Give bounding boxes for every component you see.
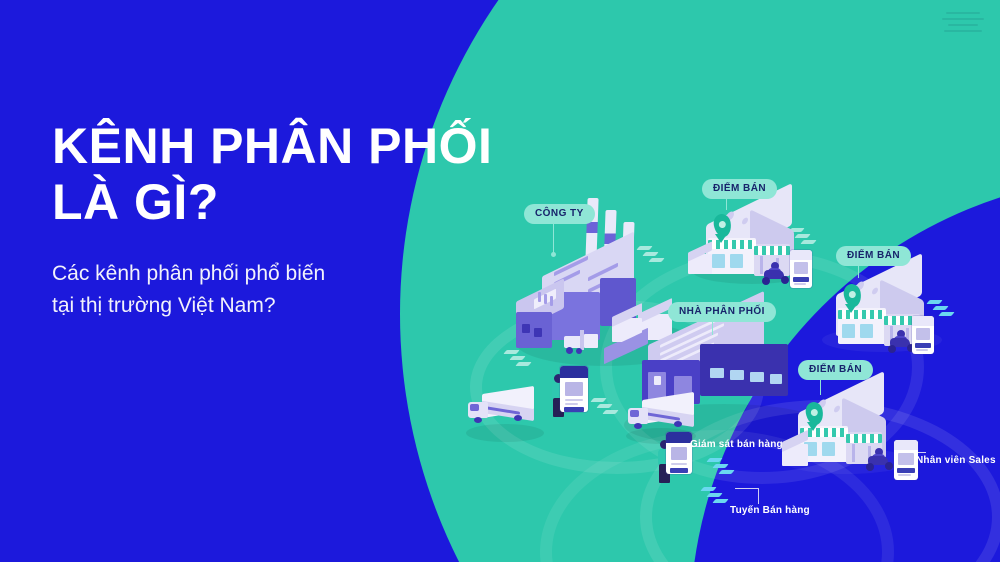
device-phone-sales	[894, 440, 918, 480]
vehicle-scooter-top	[758, 262, 792, 286]
device-phone-supervisor	[666, 432, 692, 474]
label-supervisor: Giám sát bán hàng	[690, 439, 783, 450]
leader-route-horizontal	[735, 488, 759, 489]
phone-top-header	[790, 250, 812, 260]
phone-top-nav	[793, 277, 809, 282]
label-outlet-top: ĐIỂM BÁN	[702, 179, 777, 199]
phone-field-row-2	[565, 403, 578, 405]
truck-right-windshield	[630, 410, 639, 417]
truck-left-windshield	[470, 404, 479, 411]
factory-annex-window-2	[534, 328, 542, 337]
warehouse-dock-sign	[654, 376, 661, 385]
shop-low-window-2	[822, 442, 835, 456]
shop-mid-window-1	[842, 324, 855, 338]
shop-mid-map-pin-tip	[845, 304, 857, 313]
vehicle-truck-left	[466, 388, 540, 428]
vehicle-truck-right	[626, 394, 700, 434]
shop-top-window-1	[712, 254, 725, 268]
device-phone-top	[790, 250, 812, 288]
phone-top-row	[794, 283, 806, 285]
leader-sales-staff	[918, 452, 926, 453]
factory-forklift	[560, 330, 596, 356]
device-phone-mid	[912, 316, 934, 354]
shop-low-awning-side	[846, 434, 882, 443]
factory-vent-fin-2	[544, 294, 547, 304]
page-subtitle: Các kênh phân phối phổ biến tại thị trườ…	[52, 258, 522, 321]
label-sales-staff: Nhân viên Sales	[916, 455, 996, 466]
phone-sales-header	[894, 440, 918, 450]
label-distributor: NHÀ PHÂN PHỐI	[668, 302, 776, 322]
scooter-top-wheel-front	[781, 276, 789, 284]
warehouse-window-3	[750, 372, 764, 382]
phone-field-row-1	[565, 399, 583, 401]
page-title-line-2: LÀ GÌ?	[52, 174, 522, 230]
shop-mid-window-2	[860, 324, 873, 338]
phone-mid-header	[912, 316, 934, 326]
page-title-line-1: KÊNH PHÂN PHỐI	[52, 118, 522, 174]
leader-distributor	[712, 321, 713, 335]
phone-sales-nav	[897, 468, 915, 473]
phone-field-nav	[564, 407, 584, 412]
truck-right-wheel-front	[634, 423, 642, 429]
leader-outlet-top	[726, 196, 727, 210]
truck-right-wheel-rear	[674, 421, 682, 427]
page-subtitle-line-1: Các kênh phân phối phổ biến	[52, 258, 522, 290]
shop-low-post-1	[852, 444, 855, 462]
phone-field-chart	[565, 382, 583, 396]
phone-supervisor-nav	[670, 468, 688, 473]
factory-forklift-crate	[584, 334, 598, 348]
warehouse-window-4	[770, 374, 782, 384]
label-outlet-low: ĐIỂM BÁN	[798, 360, 873, 380]
factory-vent-fin-3	[550, 296, 553, 306]
scooter-top-wheel-rear	[762, 277, 770, 285]
device-phone-field	[560, 366, 588, 412]
warehouse-window-2	[730, 370, 744, 380]
phone-sales-row	[898, 474, 911, 476]
warehouse-window-1	[710, 368, 724, 378]
phone-supervisor-row-1	[671, 463, 687, 465]
page-subtitle-line-2: tại thị trường Việt Nam?	[52, 290, 522, 322]
shop-top-awning-side	[754, 246, 790, 255]
leader-outlet-mid	[858, 264, 859, 278]
leader-dot-company	[551, 252, 556, 257]
truck-left-wheel-rear	[514, 415, 522, 421]
leader-route-vertical	[758, 488, 759, 504]
scooter-low-wheel-front	[885, 462, 893, 470]
phone-sales-chart	[898, 453, 914, 465]
factory-vent-fin-1	[538, 292, 541, 302]
phone-supervisor-chart	[671, 447, 687, 460]
phone-field-header	[560, 366, 588, 378]
phone-mid-chart	[916, 328, 930, 340]
phone-supervisor-header	[666, 432, 692, 443]
label-company: CÔNG TY	[524, 204, 595, 224]
scooter-low-wheel-rear	[866, 463, 874, 471]
label-route: Tuyến Bán hàng	[730, 505, 810, 516]
phone-mid-row	[916, 349, 928, 351]
truck-left-wheel-front	[474, 417, 482, 423]
label-outlet-mid: ĐIỂM BÁN	[836, 246, 911, 266]
headline-block: KÊNH PHÂN PHỐI LÀ GÌ? Các kênh phân phối…	[52, 118, 522, 321]
vehicle-scooter-low	[862, 448, 896, 472]
shop-top-window-2	[730, 254, 743, 268]
leader-outlet-low	[820, 379, 821, 395]
watermark	[940, 10, 986, 36]
leader-company	[553, 224, 554, 254]
phone-top-chart	[794, 262, 808, 274]
shop-top-map-pin-tip	[715, 234, 727, 243]
shop-low-map-pin-tip	[807, 422, 819, 431]
factory-annex-window	[522, 324, 530, 333]
phone-mid-nav	[915, 343, 931, 348]
scooter-mid-wheel-rear	[888, 345, 896, 353]
poster-canvas: KÊNH PHÂN PHỐI LÀ GÌ? Các kênh phân phối…	[0, 0, 1000, 562]
